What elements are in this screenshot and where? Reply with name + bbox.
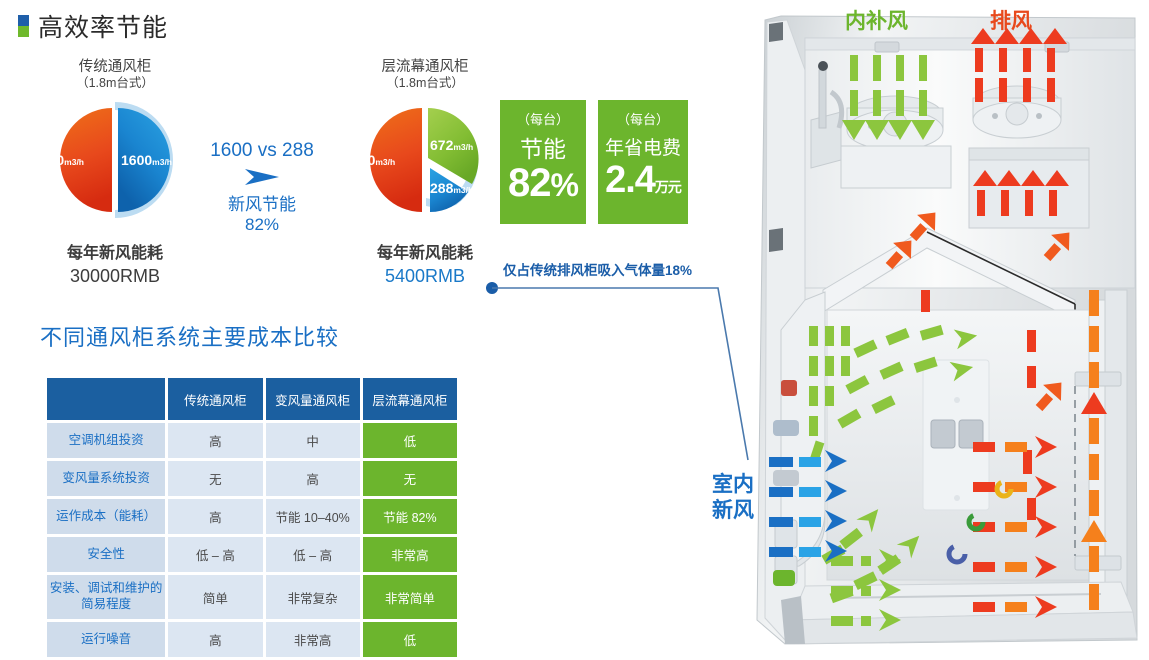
benefit-value: 82% [198,215,326,235]
table-row: 运行噪音 高 非常高 低 [47,622,457,657]
callout-leader-line [480,275,770,485]
cost-comparison-table: 传统通风柜 变风量通风柜 层流幕通风柜 空调机组投资 高 中 低 变风量系统投资… [44,375,460,660]
brand-mark-icon [18,15,29,37]
cell-vav: 非常复杂 [266,575,360,619]
chart-traditional-footer: 每年新风能耗 30000RMB [20,244,210,288]
cell-laminar: 无 [363,461,457,496]
table-row: 空调机组投资 高 中 低 [47,423,457,458]
pie-slice-label-exhaust: 960m3/h [352,152,395,170]
badge-energy-value: 82% [500,164,586,202]
table-header-row: 传统通风柜 变风量通风柜 层流幕通风柜 [47,378,457,420]
page-header: 高效率节能 [18,8,168,44]
cell-vav: 低 – 高 [266,537,360,572]
row-label: 安装、调试和维护的简易程度 [47,575,165,619]
cell-traditional: 无 [168,461,262,496]
cell-laminar: 非常高 [363,537,457,572]
cell-traditional: 低 – 高 [168,537,262,572]
cell-vav: 中 [266,423,360,458]
badge-annual-saving: （每台） 年省电费 2.4万元 [598,100,688,224]
cell-laminar: 低 [363,622,457,657]
benefit-label: 新风节能 [198,190,326,215]
badge-energy-saving: （每台） 节能 82% [500,100,586,224]
table-header-traditional: 传统通风柜 [168,378,262,420]
cell-laminar: 非常简单 [363,575,457,619]
chart-laminar-hood: 层流幕通风柜 （1.8m台式） [330,58,520,288]
chart-traditional-hood: 传统通风柜 （1.8m台式） [20,58,210,288]
cell-vav: 节能 10–40% [266,499,360,534]
pie-chart-laminar: 960m3/h 672m3/h 288m3/h [330,100,520,220]
table-row: 变风量系统投资 无 高 无 [47,461,457,496]
row-label: 运行噪音 [47,622,165,657]
pie-chart-traditional: 1600m3/h 1600m3/h [20,100,210,220]
fume-hood-diagram [745,0,1149,660]
badge-annual-value: 2.4万元 [598,162,688,198]
fume-hood-illustration [745,0,1149,660]
pie-slice-label-supply: 1600m3/h [121,152,172,170]
table-row: 安全性 低 – 高 低 – 高 非常高 [47,537,457,572]
row-label: 变风量系统投资 [47,461,165,496]
chart-traditional-caption: 传统通风柜 （1.8m台式） [20,58,210,92]
diagram-label-room-air-line2: 新风 [712,498,754,524]
table-row: 运作成本（能耗） 高 节能 10–40% 节能 82% [47,499,457,534]
table-title: 不同通风柜系统主要成本比较 [40,320,339,352]
cell-laminar: 节能 82% [363,499,457,534]
table-header-laminar: 层流幕通风柜 [363,378,457,420]
cell-vav: 高 [266,461,360,496]
diagram-label-internal-supply: 内补风 [845,5,908,35]
infographic-page: 高效率节能 传统通风柜 （1.8m台式） [0,0,1149,660]
cell-laminar: 低 [363,423,457,458]
page-title: 高效率节能 [38,8,168,44]
cell-traditional: 简单 [168,575,262,619]
row-label: 安全性 [47,537,165,572]
diagram-label-room-air: 室内 新风 [712,472,754,525]
arrow-right-icon [198,166,326,188]
cell-traditional: 高 [168,622,262,657]
comparison-summary: 1600 vs 288 新风节能 82% [198,140,326,235]
cell-traditional: 高 [168,499,262,534]
chart-laminar-caption: 层流幕通风柜 （1.8m台式） [330,58,520,92]
cell-vav: 非常高 [266,622,360,657]
table-header-blank [47,378,165,420]
table-header-vav: 变风量通风柜 [266,378,360,420]
pie-slice-label-exhaust: 1600m3/h [33,152,84,170]
pie-slice-label-fresh: 288m3/h [430,180,473,198]
row-label: 空调机组投资 [47,423,165,458]
row-label: 运作成本（能耗） [47,499,165,534]
diagram-label-room-air-line1: 室内 [712,472,754,498]
table-row: 安装、调试和维护的简易程度 简单 非常复杂 非常简单 [47,575,457,619]
diagram-label-exhaust: 排风 [990,5,1032,35]
pie-slice-label-internal: 672m3/h [430,137,473,155]
vs-text: 1600 vs 288 [198,140,326,162]
cell-traditional: 高 [168,423,262,458]
